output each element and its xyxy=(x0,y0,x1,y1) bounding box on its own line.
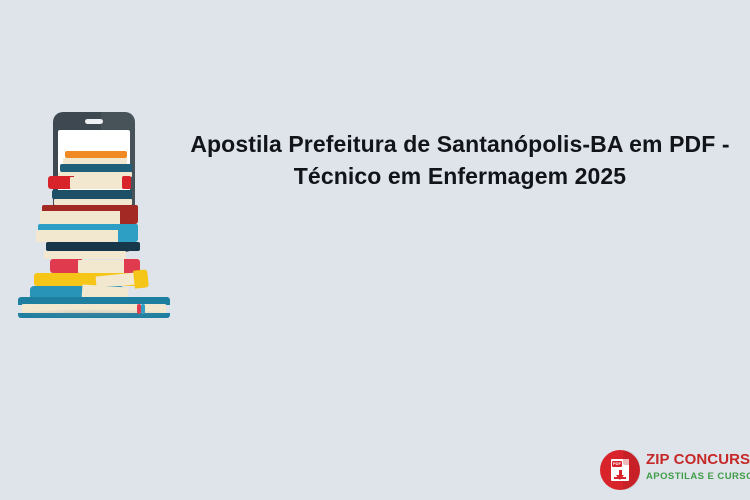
logo-text-block: ZIP CONCURSOS APOSTILAS E CURSOS xyxy=(646,451,746,482)
book-spine xyxy=(118,226,138,242)
book-pages xyxy=(40,211,126,224)
logo-title: ZIP CONCURSOS xyxy=(646,451,746,469)
book-navy-1 xyxy=(52,190,132,199)
book-pages xyxy=(70,177,128,189)
document-shape: PDF xyxy=(611,459,629,481)
logo-subtitle: APOSTILAS E CURSOS xyxy=(646,471,746,482)
pdf-label: PDF xyxy=(612,461,622,467)
zip-concursos-logo[interactable]: PDF ZIP CONCURSOS APOSTILAS E CURSOS xyxy=(600,448,746,494)
book-pages xyxy=(36,230,124,242)
book-pages xyxy=(78,260,130,273)
page-fold xyxy=(623,459,629,465)
book-spine xyxy=(133,269,149,288)
illustration-shadow xyxy=(14,309,172,318)
books-illustration xyxy=(8,112,178,320)
book-darknavy xyxy=(46,242,140,251)
book-stack xyxy=(8,112,178,320)
book-orange-top xyxy=(65,151,127,158)
book-spine xyxy=(122,176,131,189)
book-pages xyxy=(44,251,126,259)
pdf-download-icon: PDF xyxy=(600,450,640,490)
page-title: Apostila Prefeitura de Santanópolis-BA e… xyxy=(170,128,750,192)
document-base-bar xyxy=(614,477,626,479)
book-spine xyxy=(120,207,138,224)
book-teal-1 xyxy=(60,164,132,172)
promo-banner: Apostila Prefeitura de Santanópolis-BA e… xyxy=(0,0,750,500)
title-block: Apostila Prefeitura de Santanópolis-BA e… xyxy=(170,128,750,192)
